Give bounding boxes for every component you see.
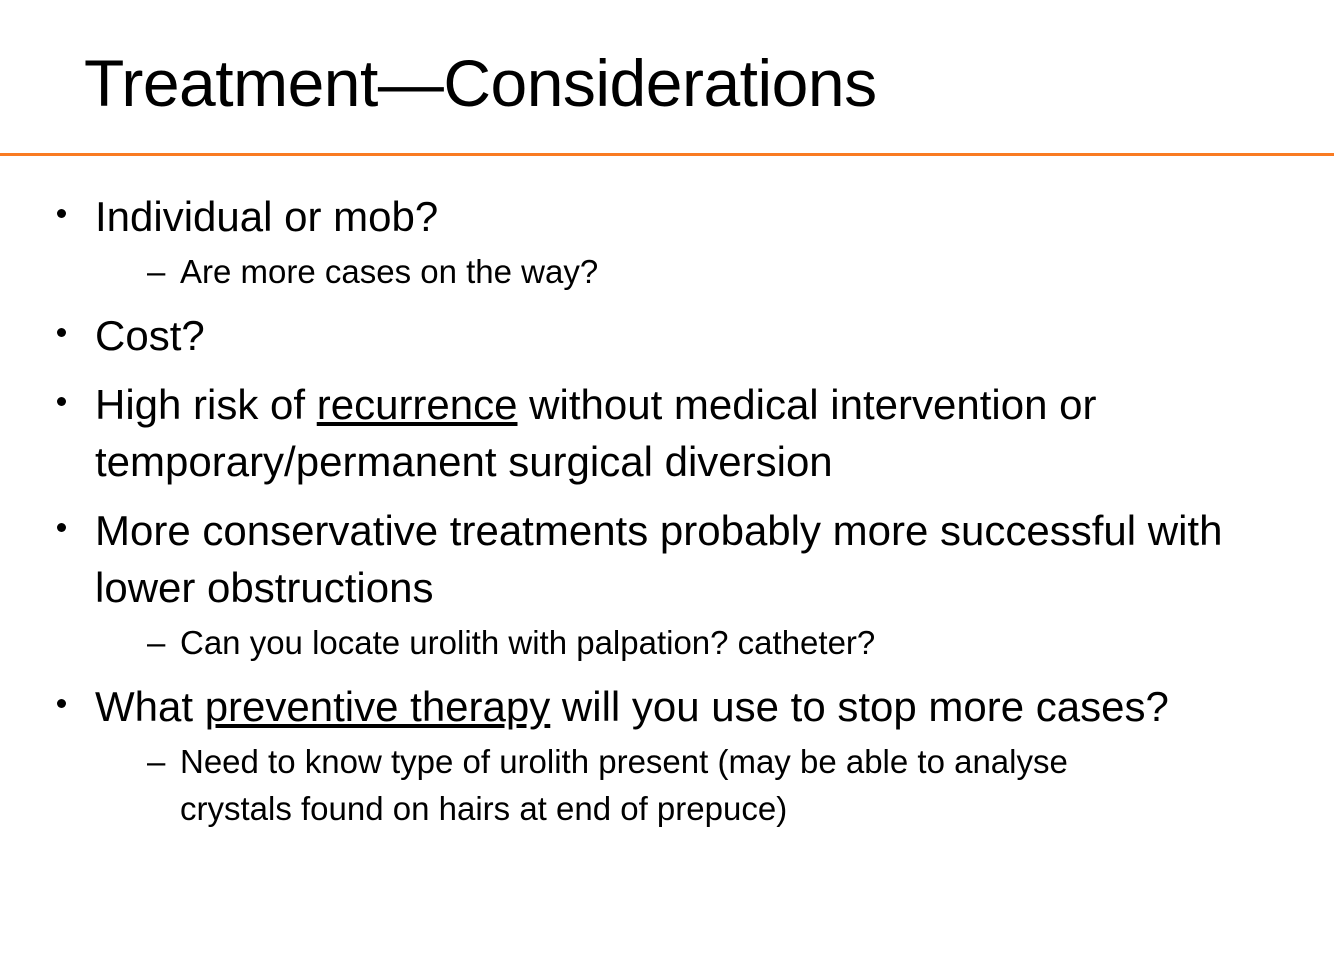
slide-canvas: Treatment—Considerations Individual or m… (0, 0, 1334, 971)
sub-bullet-item-1-1: – Are more cases on the way? (95, 248, 1224, 295)
bullet-item-5: What preventive therapy will you use to … (0, 678, 1334, 832)
bullet-text-5-pre: What (95, 683, 205, 730)
bullet-list-level2-5: – Need to know type of urolith present (… (95, 738, 1224, 832)
page-title: Treatment—Considerations (84, 44, 1264, 122)
bullet-item-4: More conservative treatments probably mo… (0, 502, 1334, 666)
slide-body: Individual or mob? – Are more cases on t… (0, 188, 1334, 836)
bullet-text-1: Individual or mob? (95, 193, 438, 240)
sub-bullet-text-1-1: Are more cases on the way? (180, 253, 598, 290)
bullet-dot-icon (57, 397, 66, 406)
list-spacer (0, 494, 1334, 502)
list-spacer (0, 299, 1334, 307)
sub-bullet-text-4-1: Can you locate urolith with palpation? c… (180, 624, 875, 661)
sub-bullet-text-5-1: Need to know type of urolith present (ma… (180, 743, 1068, 827)
sub-bullet-item-5-1: – Need to know type of urolith present (… (95, 738, 1224, 832)
bullet-text-3-pre: High risk of (95, 381, 317, 428)
bullet-list-level1: Individual or mob? – Are more cases on t… (0, 188, 1334, 832)
title-divider-rule (0, 153, 1334, 156)
bullet-text-3-emphasis: recurrence (317, 381, 518, 428)
bullet-dash-icon: – (147, 619, 167, 666)
bullet-dash-icon: – (147, 248, 167, 295)
list-spacer (0, 670, 1334, 678)
list-spacer (0, 368, 1334, 376)
bullet-list-level2-4: – Can you locate urolith with palpation?… (95, 619, 1224, 666)
bullet-dot-icon (57, 209, 66, 218)
bullet-list-level2-1: – Are more cases on the way? (95, 248, 1224, 295)
bullet-dot-icon (57, 523, 66, 532)
bullet-dash-icon: – (147, 738, 167, 785)
bullet-text-4: More conservative treatments probably mo… (95, 507, 1222, 611)
bullet-dot-icon (57, 699, 66, 708)
bullet-text-5-emphasis: preventive therapy (205, 683, 551, 730)
slide-title-block: Treatment—Considerations (84, 44, 1264, 130)
bullet-text-2: Cost? (95, 312, 205, 359)
bullet-item-2: Cost? (0, 307, 1334, 364)
bullet-item-1: Individual or mob? – Are more cases on t… (0, 188, 1334, 295)
bullet-dot-icon (57, 328, 66, 337)
bullet-text-5-post: will you use to stop more cases? (550, 683, 1169, 730)
sub-bullet-item-4-1: – Can you locate urolith with palpation?… (95, 619, 1224, 666)
bullet-item-3: High risk of recurrence without medical … (0, 376, 1334, 490)
